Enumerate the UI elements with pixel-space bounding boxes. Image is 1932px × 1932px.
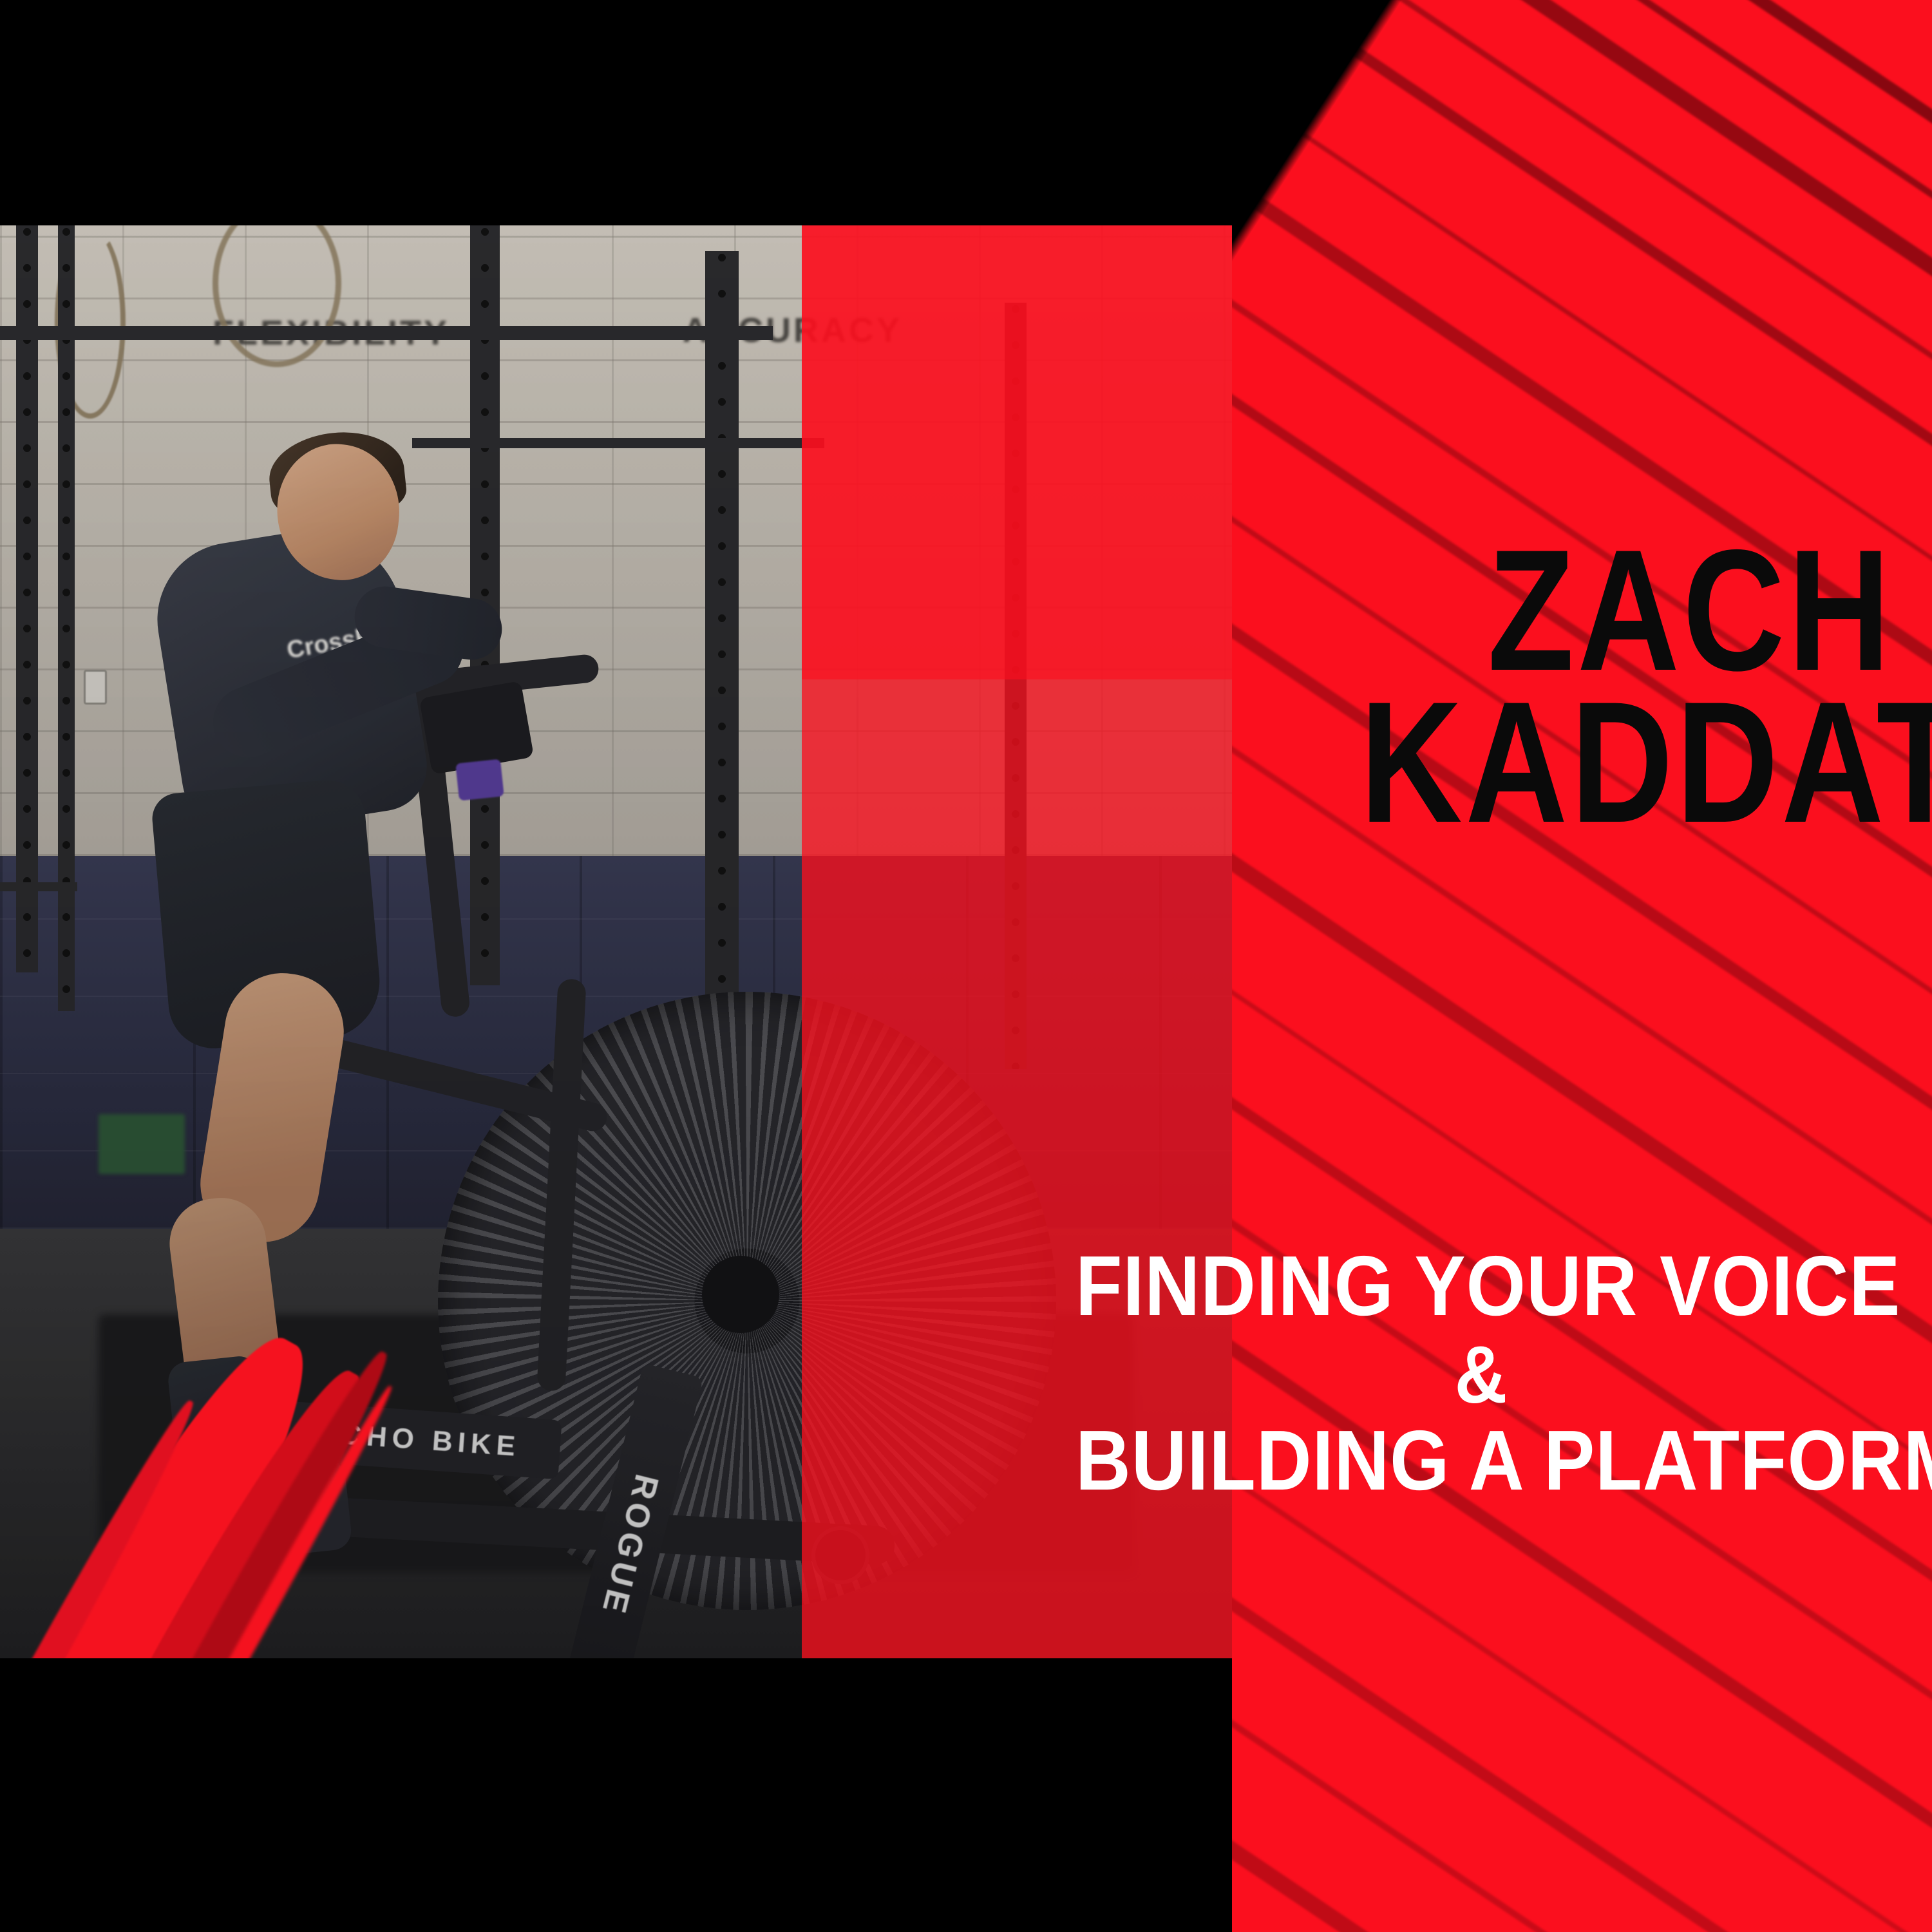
speaker-first-name: ZACH	[1360, 535, 1893, 687]
topic-ampersand: &	[1075, 1334, 1887, 1417]
speaker-name: ZACH KADDATZ	[1243, 535, 1893, 838]
episode-topic: FINDING YOUR VOICE & BUILDING A PLATFORM	[1030, 1243, 1932, 1504]
promo-graphic: FLEXIBILITY ACCURACY	[0, 0, 1932, 1932]
letterbox-bar-bottom	[0, 1658, 1232, 1932]
topic-line-2: BUILDING A PLATFORM	[1075, 1417, 1887, 1504]
topic-line-1: FINDING YOUR VOICE	[1075, 1243, 1887, 1330]
speaker-last-name: KADDATZ	[1360, 687, 1893, 838]
letterbox-bar-top	[0, 0, 1232, 225]
